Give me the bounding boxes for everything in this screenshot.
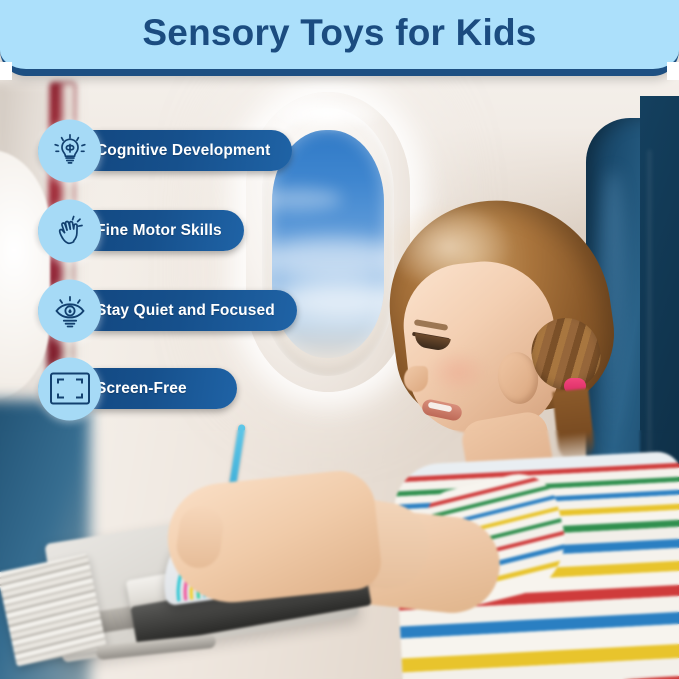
product-infographic: Sensory Toys for Kids Cognitive Developm… xyxy=(0,0,679,679)
feature-label: Fine Motor Skills xyxy=(96,222,222,240)
feature-badge-4[interactable]: Screen-Free xyxy=(38,368,237,409)
feature-label: Cognitive Development xyxy=(96,142,270,160)
feature-badge-3[interactable]: Stay Quiet and Focused xyxy=(38,290,297,331)
feature-label: Screen-Free xyxy=(96,380,187,398)
hand-tap-icon xyxy=(38,199,101,262)
feature-badge-2[interactable]: Fine Motor Skills xyxy=(38,210,244,251)
eye-focus-icon xyxy=(38,279,101,342)
lightbulb-brain-icon xyxy=(38,119,101,182)
feature-badge-list: Cognitive Development Fine Motor Skills … xyxy=(0,0,679,679)
feature-badge-1[interactable]: Cognitive Development xyxy=(38,130,292,171)
feature-label: Stay Quiet and Focused xyxy=(96,302,275,320)
screen-frame-icon xyxy=(38,357,101,420)
